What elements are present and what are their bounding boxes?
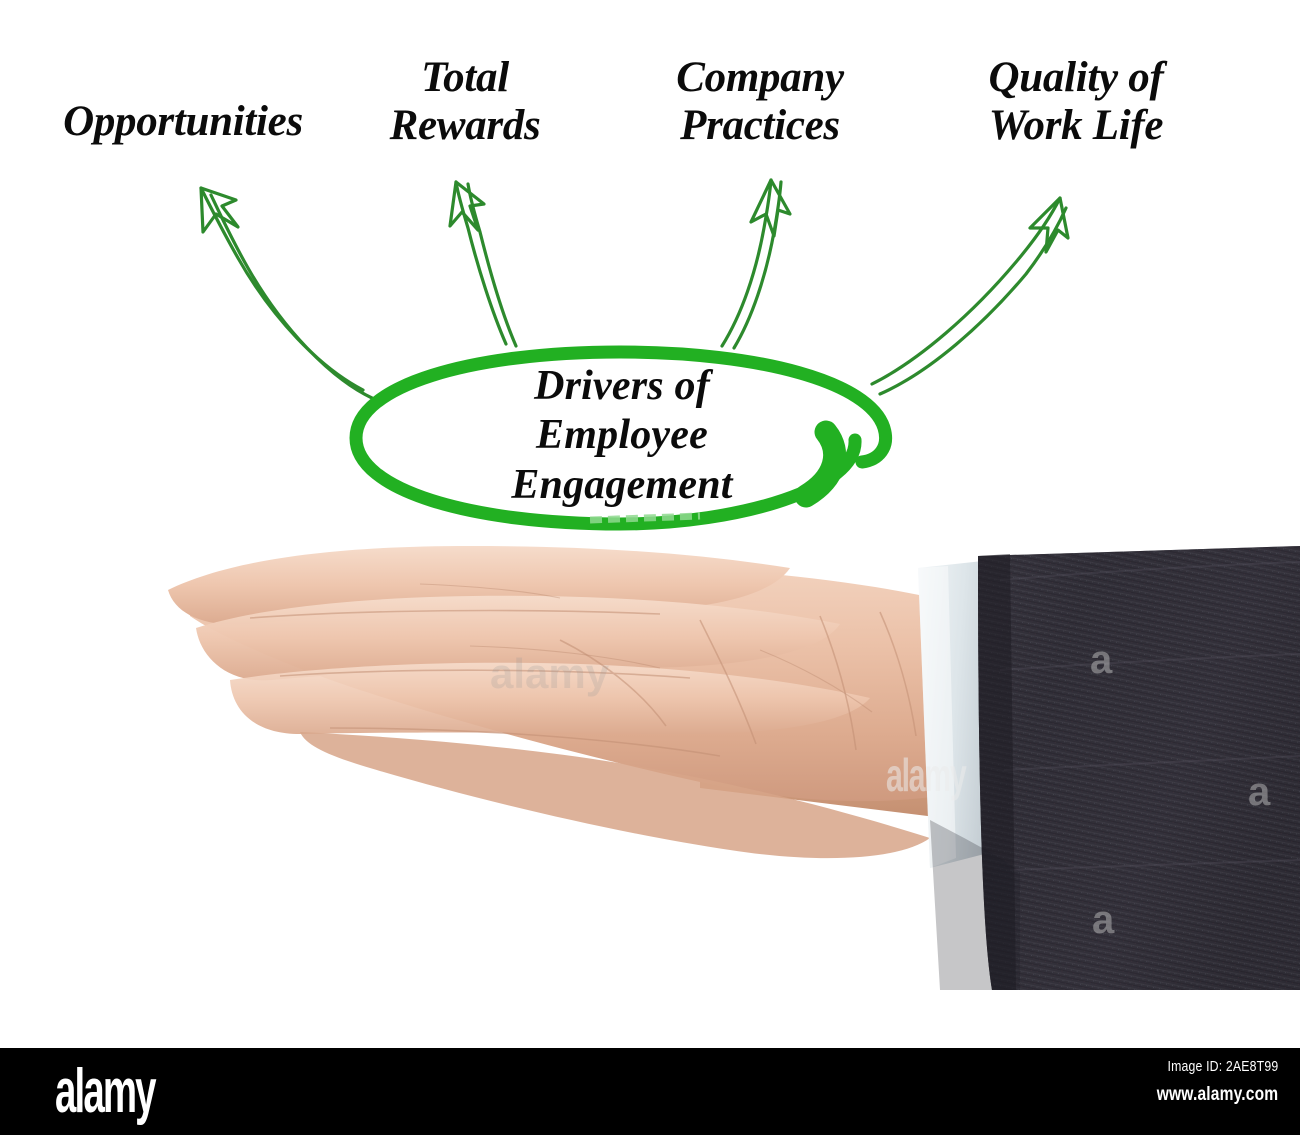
center-node-label: Drivers of Employee Engagement xyxy=(352,348,886,524)
image-id-text: Image ID: 2AE8T99 xyxy=(1156,1058,1278,1075)
arrow-to-opportunities xyxy=(201,188,372,398)
center-node: Drivers of Employee Engagement xyxy=(352,348,886,524)
arrow-to-quality-of-work-life xyxy=(872,198,1068,394)
footer-bar: alamy Image ID: 2AE8T99 www.alamy.com xyxy=(0,1048,1300,1135)
arrow-to-total-rewards xyxy=(450,182,516,346)
alamy-logo: alamy xyxy=(55,1056,155,1127)
hand-photograph: alamy xyxy=(0,520,1300,1030)
driver-label-quality-of-work-life: Quality of Work Life xyxy=(958,54,1194,150)
arrow-to-company-practices xyxy=(722,180,790,348)
footer-meta: Image ID: 2AE8T99 www.alamy.com xyxy=(1130,1058,1278,1106)
driver-label-company-practices: Company Practices xyxy=(648,54,872,150)
driver-label-opportunities: Opportunities xyxy=(38,98,328,146)
alamy-url[interactable]: www.alamy.com xyxy=(1156,1084,1278,1106)
diagram-canvas: alamy a a a alamy xyxy=(0,0,1300,1135)
driver-label-total-rewards: Total Rewards xyxy=(370,54,560,150)
hand-illustration xyxy=(0,520,1300,1030)
